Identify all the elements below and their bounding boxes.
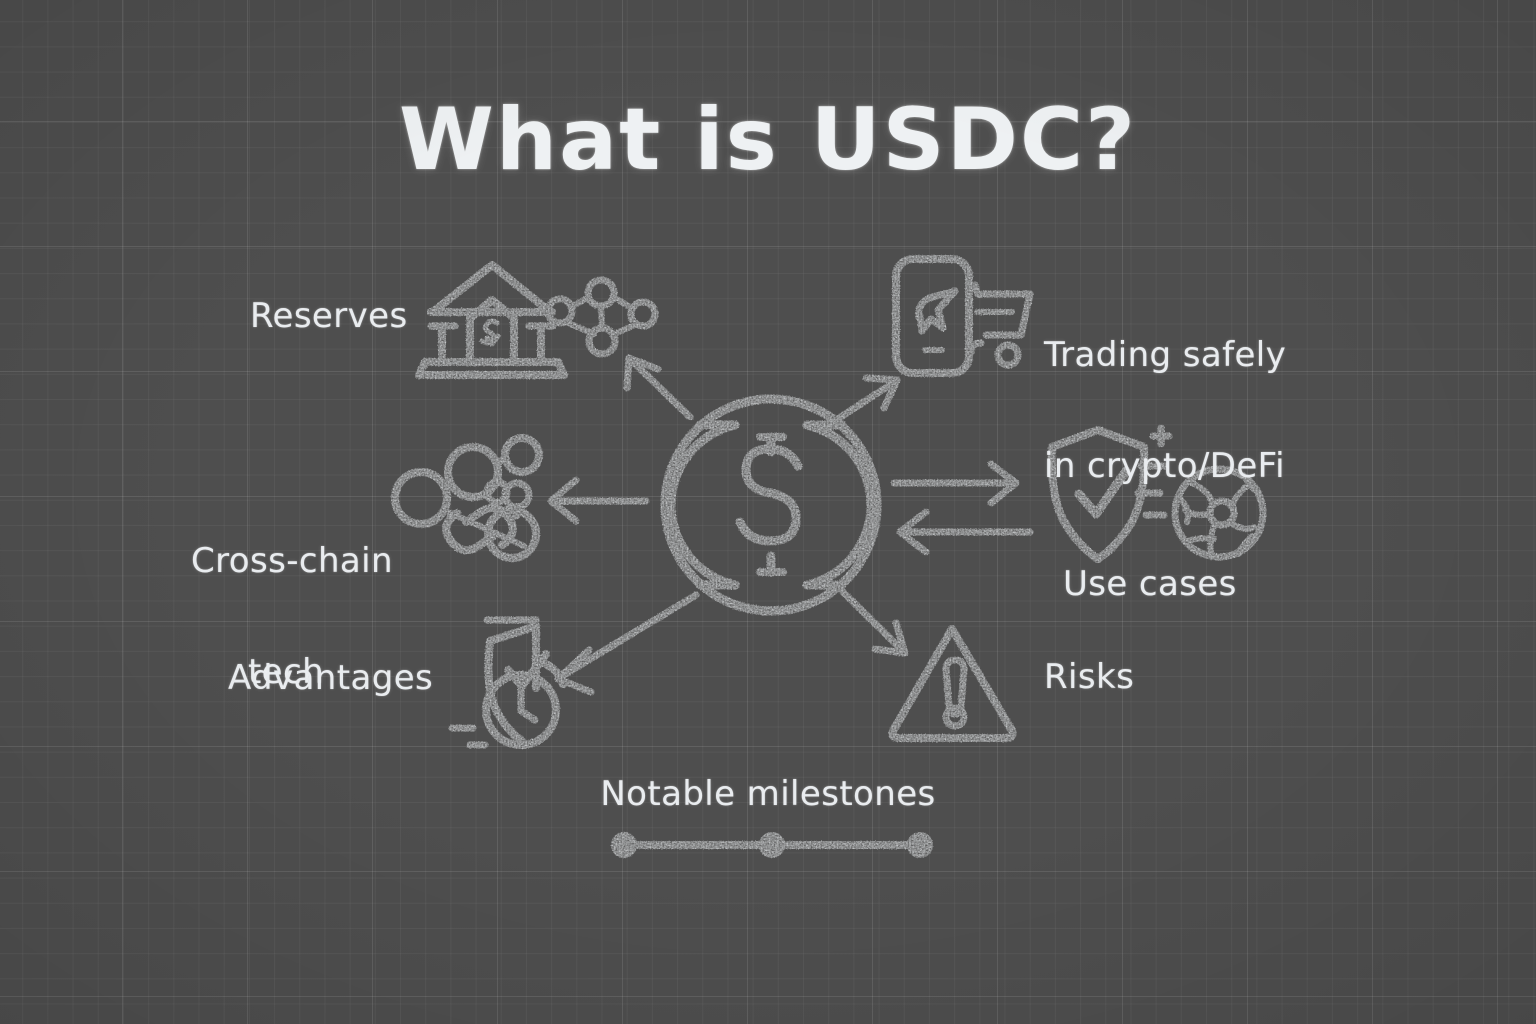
arrow-to-reserves: [627, 358, 690, 417]
label-risks[interactable]: Risks: [1044, 658, 1134, 696]
arrow-to-advantages: [558, 595, 696, 692]
chalkboard-canvas: What is USDC? Reserves Trading safely in…: [0, 0, 1536, 1024]
usdc-coin-icon: [665, 399, 877, 611]
warning-triangle-icon: [892, 629, 1012, 738]
timeline-icon: [611, 832, 933, 858]
label-trading-safely[interactable]: Trading safely in crypto/DeFi: [1044, 264, 1286, 558]
network-nodes-icon: [548, 280, 655, 354]
arrow-to-usecases: [894, 464, 1016, 503]
phone-cursor-icon: [896, 259, 969, 373]
label-cross-chain-line1: Cross-chain: [191, 543, 381, 580]
molecule-chainlink-icon: [395, 438, 539, 558]
label-reserves[interactable]: Reserves: [250, 297, 408, 335]
shopping-cart-icon: [971, 285, 1030, 365]
label-trading-safely-line2: in crypto/DeFi: [1044, 448, 1286, 485]
bank-icon: [419, 265, 564, 375]
label-use-cases[interactable]: Use cases: [1063, 565, 1237, 603]
arrow-from-usecases: [900, 512, 1030, 552]
arrow-to-risks: [843, 592, 905, 653]
label-notable-milestones[interactable]: Notable milestones: [0, 775, 1536, 813]
label-cross-chain-tech[interactable]: Cross-chain tech: [191, 470, 381, 764]
page-title: What is USDC?: [0, 92, 1536, 188]
arrow-to-crosschain: [551, 480, 646, 521]
shield-check-clock-icon: [452, 620, 563, 745]
label-advantages[interactable]: Advantages: [228, 659, 433, 697]
arrow-to-trading: [836, 378, 897, 420]
label-trading-safely-line1: Trading safely: [1044, 337, 1286, 374]
